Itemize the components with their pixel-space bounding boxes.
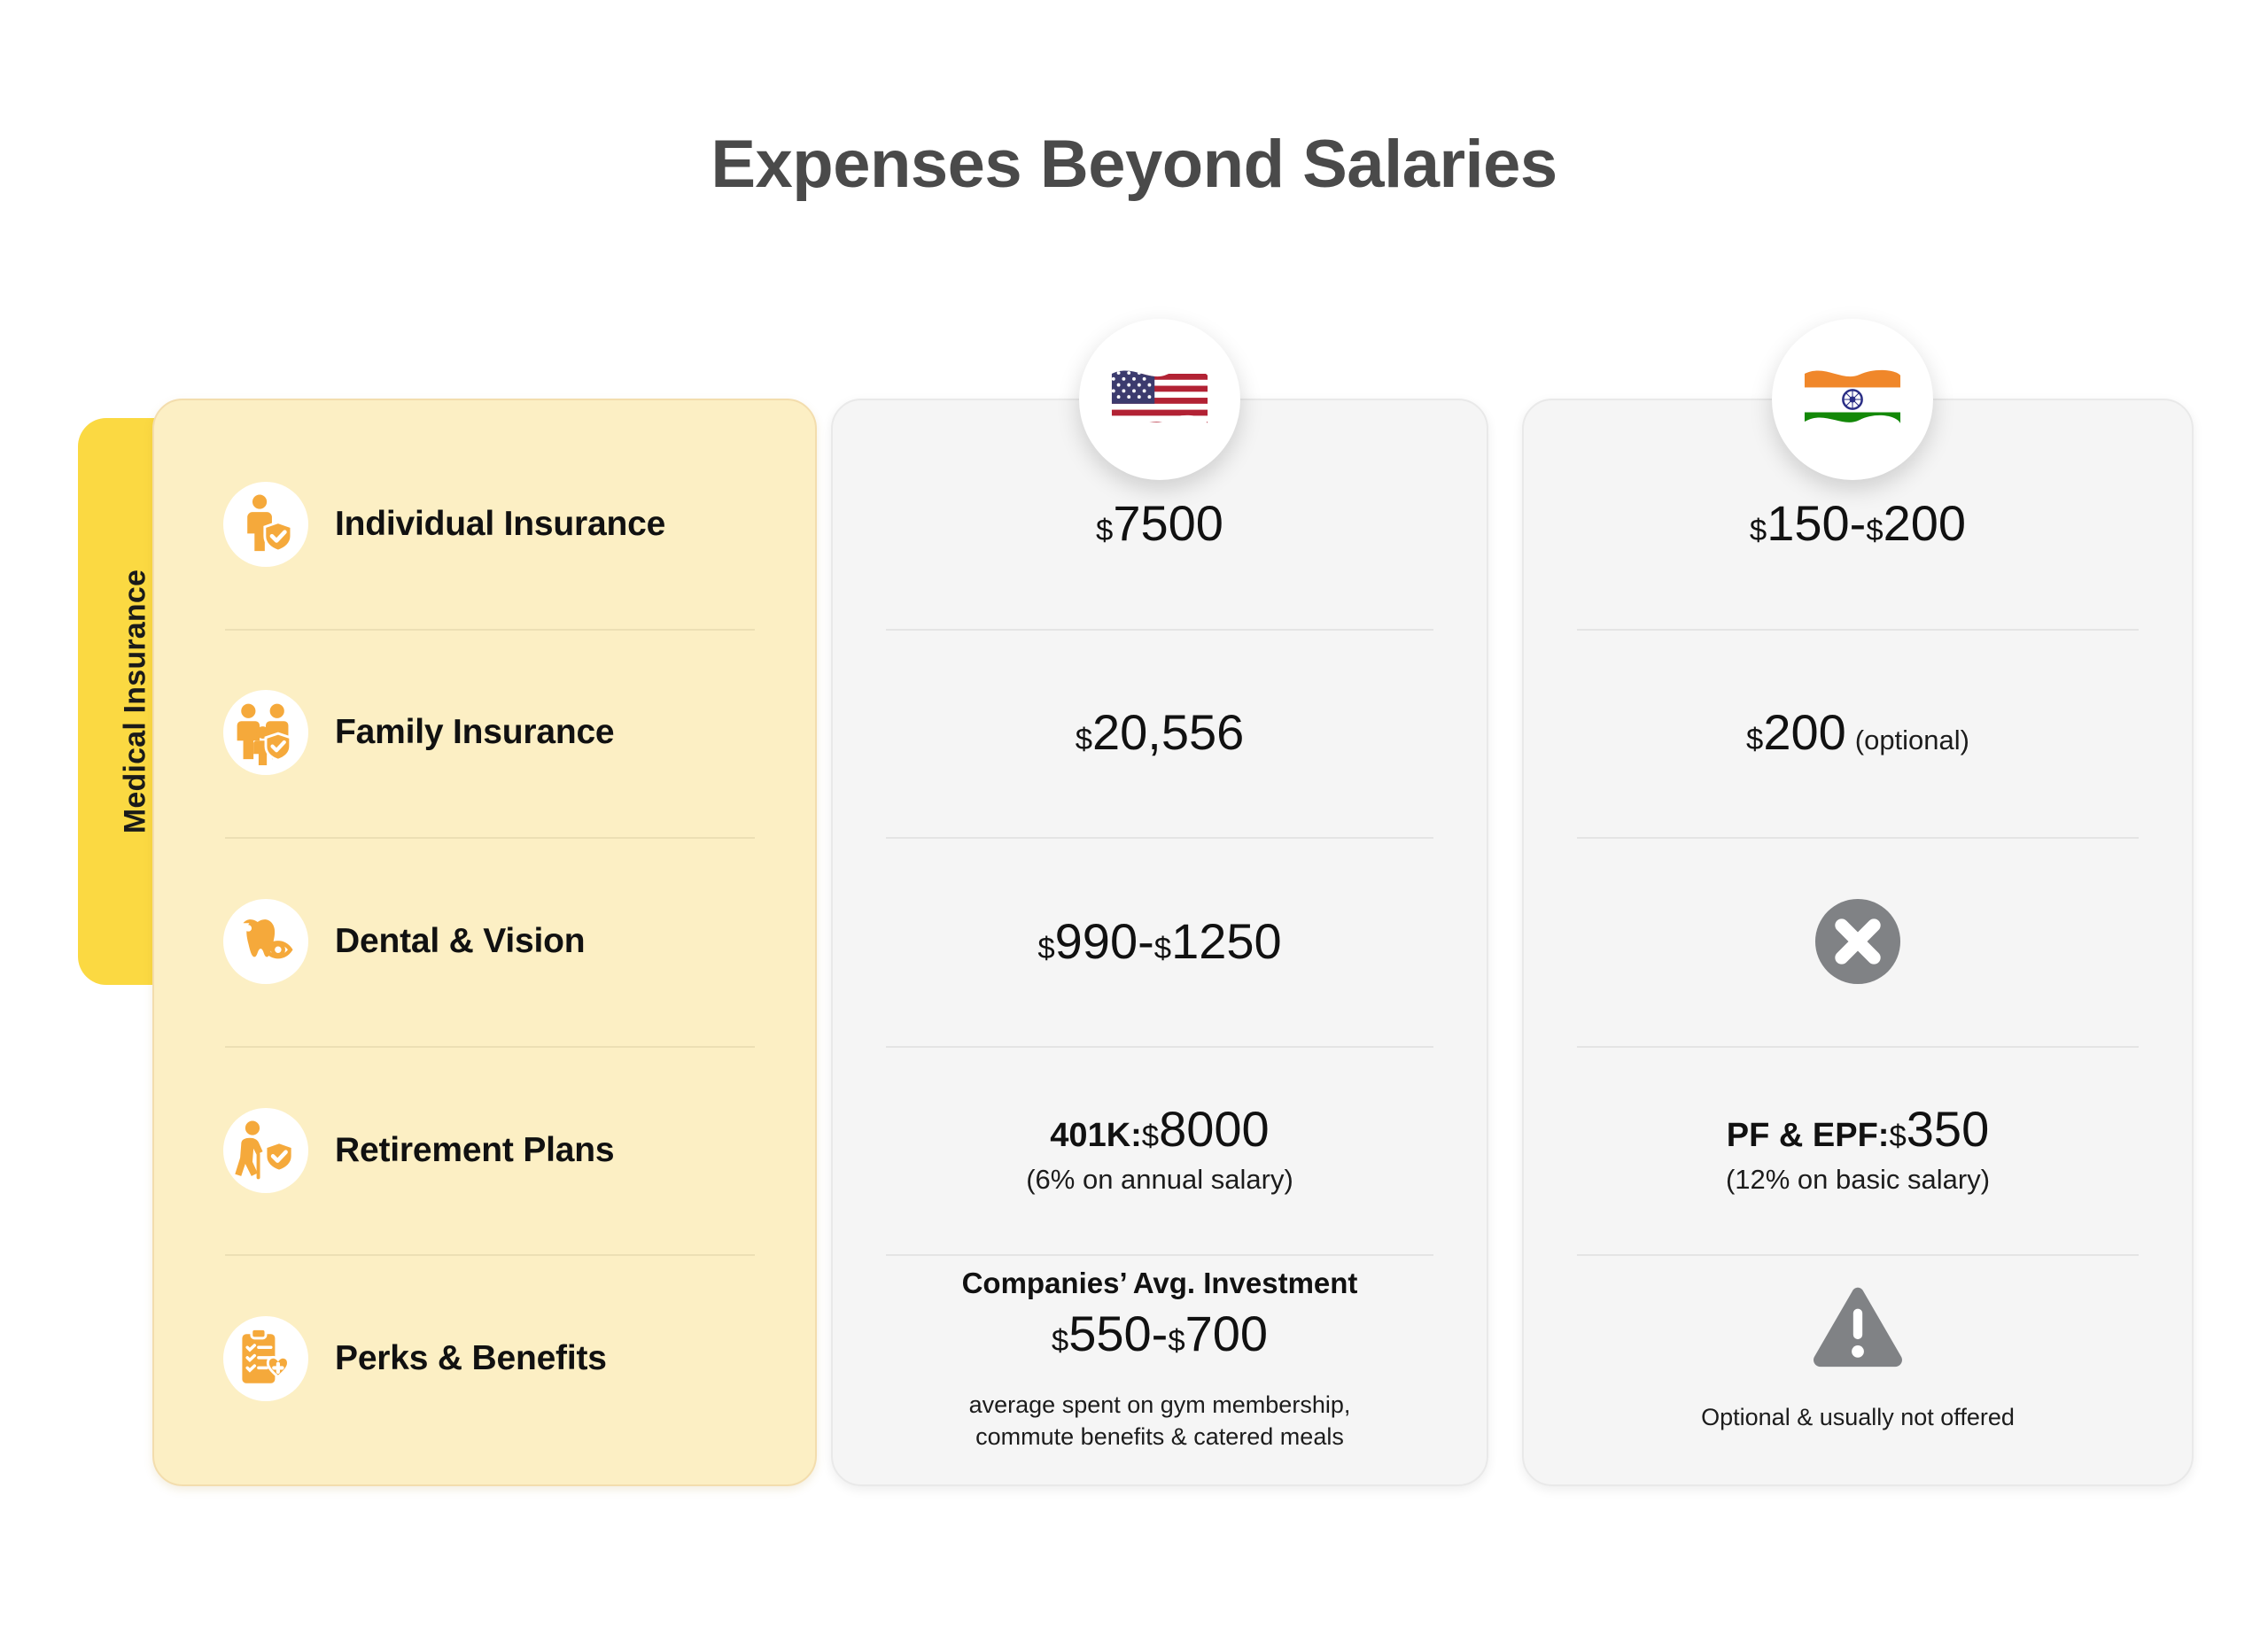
retirement-plans-icon bbox=[223, 1108, 308, 1193]
india-values-list: $150-$200 $200(optional) PF & EPF bbox=[1524, 400, 2192, 1484]
list-item-label: Dental & Vision bbox=[335, 922, 585, 961]
list-item-label: Retirement Plans bbox=[335, 1131, 614, 1170]
currency-symbol: $ bbox=[1889, 1120, 1906, 1152]
amount-value: 20,556 bbox=[1092, 707, 1244, 759]
currency-symbol: $ bbox=[1746, 724, 1763, 756]
amount-value: 990- bbox=[1055, 916, 1154, 968]
list-item-label: Individual Insurance bbox=[335, 505, 665, 544]
india-values-card: $150-$200 $200(optional) PF & EPF bbox=[1522, 399, 2194, 1486]
list-item: Family Insurance bbox=[206, 629, 764, 838]
currency-symbol: $ bbox=[1037, 933, 1054, 965]
amount-value-2: 200 bbox=[1884, 498, 1966, 550]
currency-symbol-2: $ bbox=[1168, 1325, 1184, 1357]
india-flag-icon bbox=[1801, 361, 1904, 438]
currency-symbol: $ bbox=[1096, 515, 1113, 546]
us-perks-value: $550-$700 bbox=[1052, 1308, 1268, 1360]
india-perks-subnote: Optional & usually not offered bbox=[1701, 1401, 2015, 1433]
list-item: Perks & Benefits bbox=[206, 1254, 764, 1463]
us-retirement-note: (6% on annual salary) bbox=[1026, 1163, 1293, 1197]
us-family-insurance-value: $20,556 bbox=[1076, 707, 1245, 759]
us-perks-subnote-line1: average spent on gym membership, bbox=[969, 1389, 1351, 1421]
value-prefix: PF & EPF: bbox=[1727, 1119, 1890, 1154]
amount-value-2: 1250 bbox=[1171, 916, 1282, 968]
table-row: Optional & usually not offered bbox=[1565, 1254, 2151, 1463]
us-individual-insurance-value: $7500 bbox=[1096, 498, 1223, 550]
table-row bbox=[1565, 837, 2151, 1046]
amount-value: 350 bbox=[1907, 1104, 1989, 1156]
currency-symbol: $ bbox=[1076, 724, 1092, 756]
amount-value: 200 bbox=[1763, 707, 1845, 759]
individual-insurance-icon bbox=[223, 482, 308, 567]
currency-symbol: $ bbox=[1052, 1325, 1068, 1357]
india-family-insurance-value: $200(optional) bbox=[1746, 707, 1969, 759]
currency-symbol-2: $ bbox=[1154, 933, 1171, 965]
page-title-bold: Beyond Salaries bbox=[1040, 127, 1557, 202]
india-retirement-value: PF & EPF: $350 bbox=[1727, 1104, 1989, 1156]
india-perks-subnote-line1: Optional & usually not offered bbox=[1701, 1401, 2015, 1433]
list-item-label: Perks & Benefits bbox=[335, 1339, 607, 1378]
perks-benefits-icon bbox=[223, 1316, 308, 1401]
us-values-card: $7500 $20,556 $990-$1250 401K: $8000 (6%… bbox=[831, 399, 1488, 1486]
dental-vision-icon bbox=[223, 899, 308, 984]
page-title: Expenses Beyond Salaries bbox=[0, 131, 2268, 198]
table-row: $20,556 bbox=[874, 629, 1446, 838]
us-perks-subnote: average spent on gym membership, commute… bbox=[969, 1389, 1351, 1453]
us-perks-subnote-line2: commute benefits & catered meals bbox=[969, 1421, 1351, 1453]
amount-value: 7500 bbox=[1113, 498, 1223, 550]
list-item: Individual Insurance bbox=[206, 420, 764, 629]
amount-value: 8000 bbox=[1159, 1104, 1270, 1156]
page-title-light: Expenses bbox=[711, 127, 1040, 202]
us-dental-vision-value: $990-$1250 bbox=[1037, 916, 1281, 968]
table-row: 401K: $8000 (6% on annual salary) bbox=[874, 1046, 1446, 1255]
benefit-labels-card: Individual Insurance Family Insur bbox=[152, 399, 817, 1486]
cross-circle-icon bbox=[1811, 895, 1905, 988]
family-insurance-icon bbox=[223, 690, 308, 775]
india-flag-badge bbox=[1772, 319, 1933, 480]
warning-triangle-icon bbox=[1808, 1284, 1907, 1373]
india-individual-insurance-value: $150-$200 bbox=[1750, 498, 1966, 550]
currency-symbol: $ bbox=[1750, 515, 1767, 546]
us-values-list: $7500 $20,556 $990-$1250 401K: $8000 (6%… bbox=[833, 400, 1487, 1484]
table-row: $990-$1250 bbox=[874, 837, 1446, 1046]
currency-symbol-2: $ bbox=[1866, 515, 1883, 546]
india-family-insurance-note: (optional) bbox=[1855, 726, 1969, 756]
list-item-label: Family Insurance bbox=[335, 713, 614, 752]
list-item: Retirement Plans bbox=[206, 1046, 764, 1255]
table-row: Companies’ Avg. Investment $550-$700 ave… bbox=[874, 1254, 1446, 1463]
amount-value-2: 700 bbox=[1185, 1308, 1268, 1360]
us-retirement-value: 401K: $8000 bbox=[1050, 1104, 1269, 1156]
value-prefix: 401K: bbox=[1050, 1119, 1142, 1154]
us-perks-caption: Companies’ Avg. Investment bbox=[962, 1265, 1358, 1301]
infographic-page: Expenses Beyond Salaries Medical Insuran… bbox=[0, 0, 2268, 1635]
amount-value: 550- bbox=[1068, 1308, 1168, 1360]
india-retirement-note: (12% on basic salary) bbox=[1726, 1163, 1990, 1197]
us-flag-icon bbox=[1108, 361, 1211, 438]
amount-value: 150- bbox=[1767, 498, 1866, 550]
us-flag-badge bbox=[1079, 319, 1240, 480]
benefit-labels-list: Individual Insurance Family Insur bbox=[154, 400, 815, 1484]
medical-insurance-tab-label: Medical Insurance bbox=[119, 570, 153, 833]
list-item: Dental & Vision bbox=[206, 837, 764, 1046]
table-row: $200(optional) bbox=[1565, 629, 2151, 838]
currency-symbol: $ bbox=[1142, 1120, 1159, 1152]
table-row: PF & EPF: $350 (12% on basic salary) bbox=[1565, 1046, 2151, 1255]
